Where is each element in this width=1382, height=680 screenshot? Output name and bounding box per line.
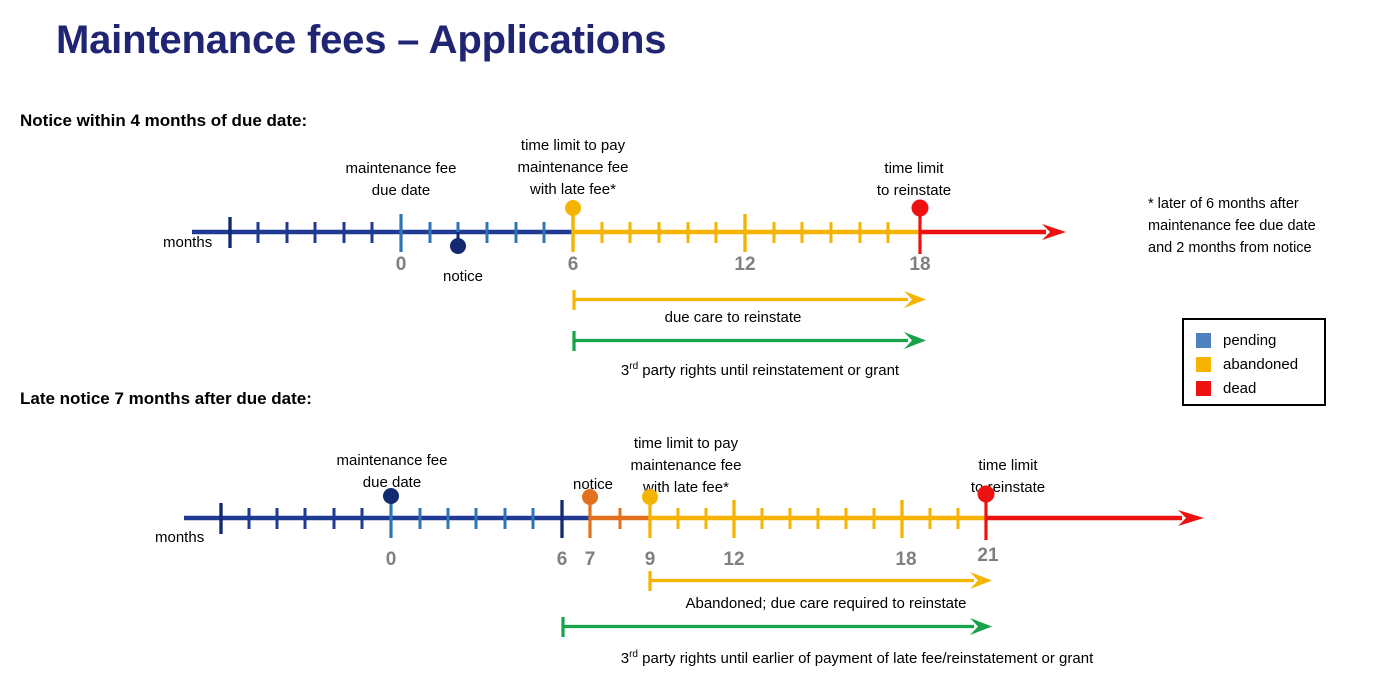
legend-label-pending: pending: [1223, 332, 1276, 349]
event-dot-notice-2: [582, 489, 598, 505]
footnote-line: maintenance fee due date: [1148, 216, 1316, 238]
event-dot-reinstate-deadline-1: [912, 200, 929, 217]
page-title: Maintenance fees – Applications: [56, 18, 666, 63]
axis-label-months-1: months: [163, 234, 212, 251]
timeline-axis-2: [172, 478, 1222, 540]
callout-line: time limit to pay: [518, 135, 629, 157]
callout-line: time limit: [877, 158, 951, 180]
tick-number-18-1: 18: [900, 254, 940, 276]
callout-time-limit-late-fee-1: time limit to pay maintenance fee with l…: [518, 135, 629, 200]
tick-number-0-2: 0: [371, 549, 411, 571]
timeline-axis-1: [180, 196, 1080, 256]
event-dot-late-fee-deadline-2: [642, 489, 658, 505]
section-heading-2: Late notice 7 months after due date:: [20, 389, 312, 409]
tick-number-0-1: 0: [381, 254, 421, 276]
tick-number-6-1: 6: [553, 254, 593, 276]
legend-label-dead: dead: [1223, 380, 1256, 397]
callout-line: maintenance fee: [631, 455, 742, 477]
callout-line: time limit: [971, 455, 1045, 477]
callout-maintenance-fee-due-date-1: maintenance fee due date: [346, 158, 457, 202]
legend-label-abandoned: abandoned: [1223, 356, 1298, 373]
footnote-line: * later of 6 months after: [1148, 194, 1316, 216]
tick-number-12-1: 12: [725, 254, 765, 276]
span-label-text-2: 3rd party rights until earlier of paymen…: [621, 650, 1093, 667]
callout-time-limit-reinstate-1: time limit to reinstate: [877, 158, 951, 202]
tick-number-21-2: 21: [968, 545, 1008, 567]
callout-line: time limit to pay: [631, 433, 742, 455]
callout-line: maintenance fee: [346, 158, 457, 180]
slide-canvas: Maintenance fees – Applications Notice w…: [0, 0, 1382, 680]
legend: pending abandoned dead: [1182, 318, 1326, 406]
label-notice-1: notice: [443, 266, 483, 288]
span-label-third-party-rights-2: 3rd party rights until earlier of paymen…: [621, 649, 1093, 667]
callout-line: maintenance fee: [337, 450, 448, 472]
legend-swatch-pending-icon: [1196, 333, 1211, 348]
legend-swatch-dead-icon: [1196, 381, 1211, 396]
span-label-third-party-rights-1: 3rd party rights until reinstatement or …: [621, 361, 899, 379]
legend-item-pending: pending: [1196, 328, 1324, 352]
legend-item-abandoned: abandoned: [1196, 352, 1324, 376]
event-dot-reinstate-deadline-2: [978, 486, 995, 503]
event-dot-notice-1: [450, 238, 466, 254]
span-label-due-care-to-reinstate: due care to reinstate: [665, 309, 802, 326]
legend-swatch-abandoned-icon: [1196, 357, 1211, 372]
footnote-late-fee: * later of 6 months after maintenance fe…: [1148, 194, 1316, 259]
event-dot-late-fee-deadline-1: [565, 200, 581, 216]
span-label-abandoned-due-care: Abandoned; due care required to reinstat…: [685, 595, 966, 612]
footnote-line: and 2 months from notice: [1148, 238, 1316, 260]
section-heading-1: Notice within 4 months of due date:: [20, 111, 307, 131]
callout-line: maintenance fee: [518, 157, 629, 179]
event-dot-due-date-2: [383, 488, 399, 504]
span-label-text-1: 3rd party rights until reinstatement or …: [621, 362, 899, 379]
legend-item-dead: dead: [1196, 376, 1324, 400]
axis-label-months-2: months: [155, 529, 204, 546]
